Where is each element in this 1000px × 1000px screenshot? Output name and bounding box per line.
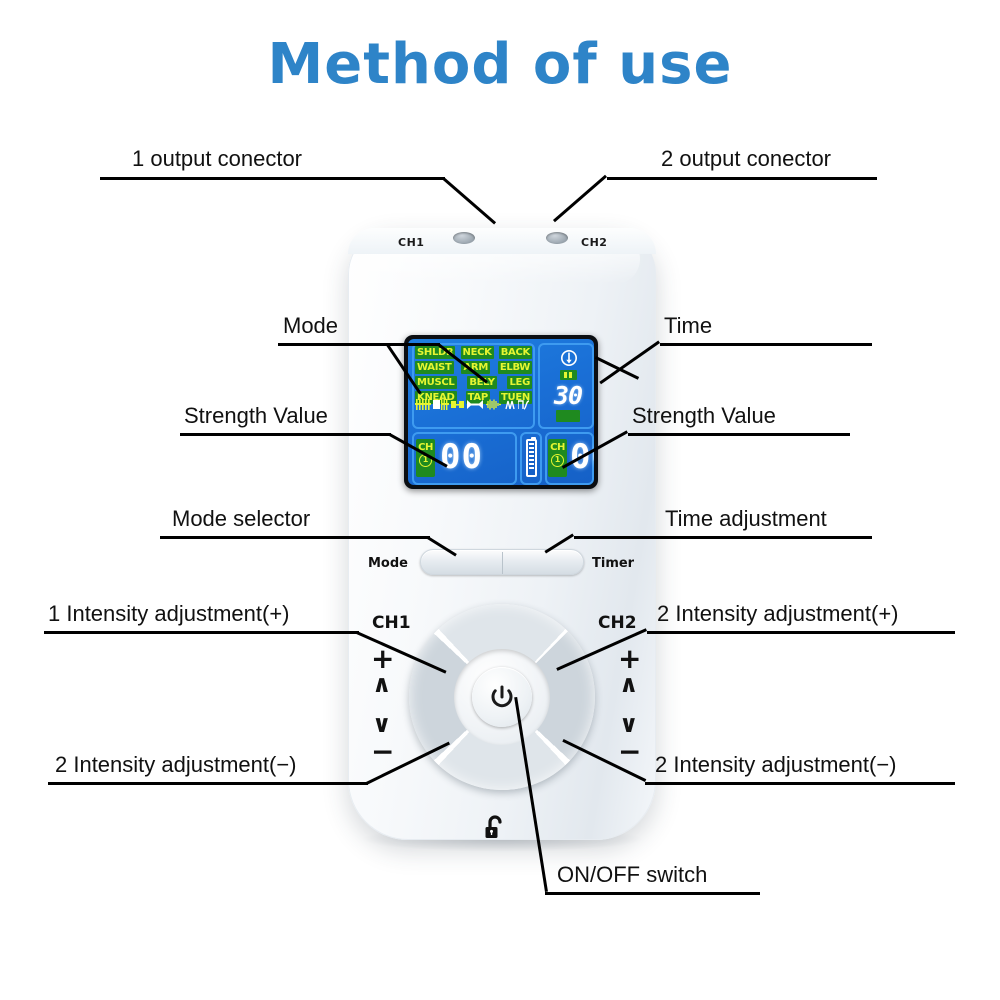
callout-rule <box>647 631 955 634</box>
comb-wave-icon <box>415 399 431 410</box>
callout-output-connector-2: 2 output conector <box>661 146 831 172</box>
lcd-mode-cell: WAIST <box>415 361 454 374</box>
callout-rule <box>48 782 368 785</box>
lcd-mode-cell: MUSCL <box>415 376 457 389</box>
lcd-mode-grid: SHLDR NECK BACK WAIST ARM ELBW MUSCL BEL… <box>415 346 532 406</box>
callout-intensity-down-right: 2 Intensity adjustment(−) <box>655 752 897 778</box>
step-wave-icon <box>518 399 530 410</box>
callout-onoff-switch: ON/OFF switch <box>557 862 707 888</box>
lcd-mode-cell: ELBW <box>498 361 532 374</box>
ch2-down-symbol: ∨ <box>619 712 639 736</box>
ch2-plus-symbol: + <box>618 645 641 673</box>
double-block-icon <box>451 399 465 410</box>
lcd-mode-cell: LEG <box>507 376 532 389</box>
signal-icon <box>560 370 577 380</box>
pad-label-ch2: CH2 <box>598 613 637 633</box>
port-label-ch1: CH1 <box>398 236 424 249</box>
callout-strength-value-right: Strength Value <box>632 403 776 429</box>
lcd-mode-row: SHLDR NECK BACK <box>415 346 532 359</box>
callout-rule <box>180 433 391 436</box>
port-label-ch2: CH2 <box>581 236 607 249</box>
person-icon <box>504 399 516 410</box>
lcd-mode-cell: NECK <box>461 346 494 359</box>
page-title: Method of use <box>0 32 1000 97</box>
ch2-up-symbol: ∧ <box>619 672 639 696</box>
clock-icon <box>560 349 578 367</box>
callout-time-adjustment: Time adjustment <box>665 506 827 532</box>
callout-leader <box>553 175 607 223</box>
rocker-divider <box>502 552 503 574</box>
power-icon <box>487 682 517 712</box>
callout-rule <box>278 343 440 346</box>
timer-bar-icon <box>556 410 580 422</box>
lcd-timer-value: 30 <box>547 383 589 408</box>
burst-wave-icon <box>485 399 502 410</box>
callout-mode: Mode <box>283 313 338 339</box>
callout-intensity-up-right: 2 Intensity adjustment(+) <box>657 601 899 627</box>
control-pad[interactable] <box>409 604 595 790</box>
callout-strength-value-left: Strength Value <box>184 403 328 429</box>
power-button[interactable] <box>472 667 532 727</box>
bowtie-icon <box>467 399 483 410</box>
callout-leader <box>442 177 496 225</box>
callout-rule <box>545 892 760 895</box>
callout-rule <box>100 177 445 180</box>
callout-time: Time <box>664 313 712 339</box>
lcd-mode-row: MUSCL BELY LEG <box>415 376 532 389</box>
lcd-ch1-value: 00 <box>440 440 483 474</box>
lcd-ch2-tag-text: CH <box>548 439 567 454</box>
pad-label-ch1: CH1 <box>372 613 411 633</box>
callout-intensity-up-left: 1 Intensity adjustment(+) <box>48 601 290 627</box>
timer-button-label: Timer <box>592 556 634 571</box>
device-top-edge <box>348 228 656 254</box>
callout-mode-selector: Mode selector <box>172 506 310 532</box>
battery-icon <box>526 439 537 477</box>
mode-button-label: Mode <box>368 556 408 571</box>
ch2-minus-symbol: − <box>618 738 641 766</box>
callout-rule <box>607 177 877 180</box>
ch1-minus-symbol: − <box>371 738 394 766</box>
callout-rule <box>645 782 955 785</box>
unlock-icon <box>481 813 511 843</box>
lcd-ch2-tag: CH 1 <box>548 439 567 477</box>
callout-rule <box>574 536 872 539</box>
callout-rule <box>628 433 850 436</box>
lcd-mode-cell: BACK <box>499 346 532 359</box>
ch1-up-symbol: ∧ <box>372 672 392 696</box>
callout-rule <box>44 631 359 634</box>
dense-pulse-icon <box>433 399 449 410</box>
mode-timer-rocker[interactable] <box>420 549 584 575</box>
output-port-ch2[interactable] <box>546 232 568 244</box>
lcd-bezel: SHLDR NECK BACK WAIST ARM ELBW MUSCL BEL… <box>404 335 598 489</box>
callout-output-connector-1: 1 output conector <box>132 146 302 172</box>
callout-rule <box>660 343 872 346</box>
ch1-down-symbol: ∨ <box>372 712 392 736</box>
lcd-waveform-strip <box>415 398 533 411</box>
callout-intensity-down-left: 2 Intensity adjustment(−) <box>55 752 297 778</box>
callout-rule <box>160 536 430 539</box>
output-port-ch1[interactable] <box>453 232 475 244</box>
